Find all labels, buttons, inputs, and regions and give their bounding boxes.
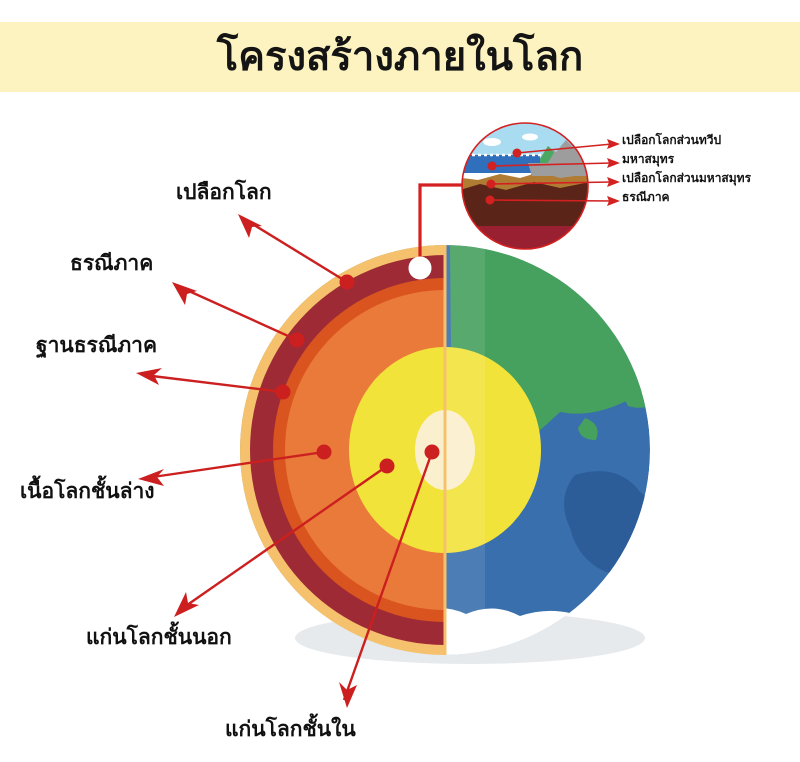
label-crust: เปลือกโลก	[176, 181, 272, 203]
label-ocean: มหาสมุทร	[622, 153, 674, 166]
inset-arrowheads	[607, 139, 620, 206]
dot-asthenosphere	[276, 385, 291, 400]
sea-inlet	[600, 248, 660, 272]
dot-lithosphere	[290, 333, 305, 348]
dot-outer-core	[380, 459, 395, 474]
label-lithosphere: ธรณีภาค	[70, 252, 153, 274]
surface-marker-dot	[409, 257, 431, 279]
dot-crust	[340, 275, 355, 290]
label-outer-core: แก่นโลกชั้นนอก	[86, 626, 232, 648]
label-continental-crust: เปลือกโลกส่วนทวีป	[622, 134, 721, 147]
label-lithosphere-inset: ธรณีภาค	[622, 191, 670, 204]
inset-mantle	[460, 182, 590, 228]
label-asthenosphere: ฐานธรณีภาค	[36, 334, 157, 356]
cloud-right	[522, 134, 538, 141]
inset-ocean	[460, 155, 540, 173]
label-oceanic-crust: เปลือกโลกส่วนมหาสมุทร	[622, 172, 751, 185]
dot-inner-core	[425, 445, 440, 460]
diagram-canvas: โครงสร้างภายในโลก	[0, 0, 800, 762]
label-lower-mantle: เนื้อโลกชั้นล่าง	[20, 480, 155, 502]
label-inner-core: แก่นโลกชั้นใน	[225, 718, 356, 740]
cloud-left	[483, 138, 501, 146]
dot-lower-mantle	[317, 445, 332, 460]
cut-face-sheen	[445, 240, 485, 660]
